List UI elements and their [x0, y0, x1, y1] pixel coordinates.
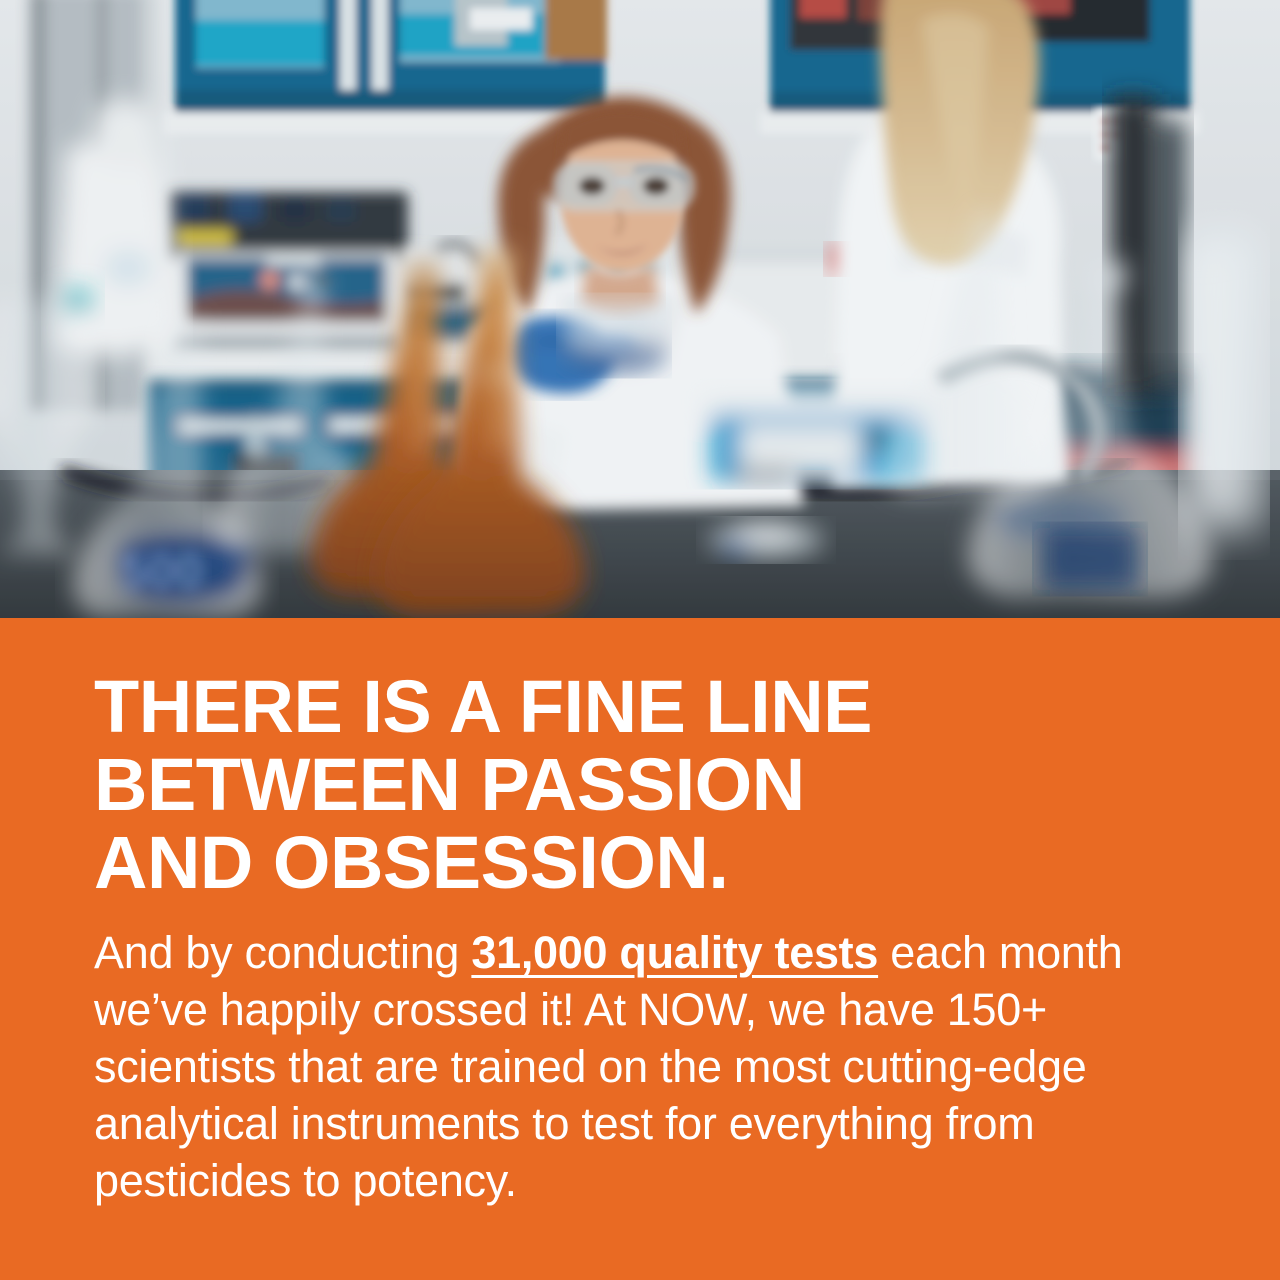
body-paragraph: And by conducting 31,000 quality tests e… [94, 924, 1186, 1209]
orange-text-panel: THERE IS A FINE LINE BETWEEN PASSION AND… [0, 618, 1280, 1280]
quality-tests-highlight: 31,000 quality tests [471, 927, 878, 978]
promotional-poster: 500 [0, 0, 1280, 1280]
page-title: THERE IS A FINE LINE BETWEEN PASSION AND… [94, 668, 1186, 902]
body-text-before: And by conducting [94, 927, 471, 978]
lab-photo: 500 [0, 0, 1280, 618]
lab-photo-illustration: 500 [0, 0, 1280, 618]
